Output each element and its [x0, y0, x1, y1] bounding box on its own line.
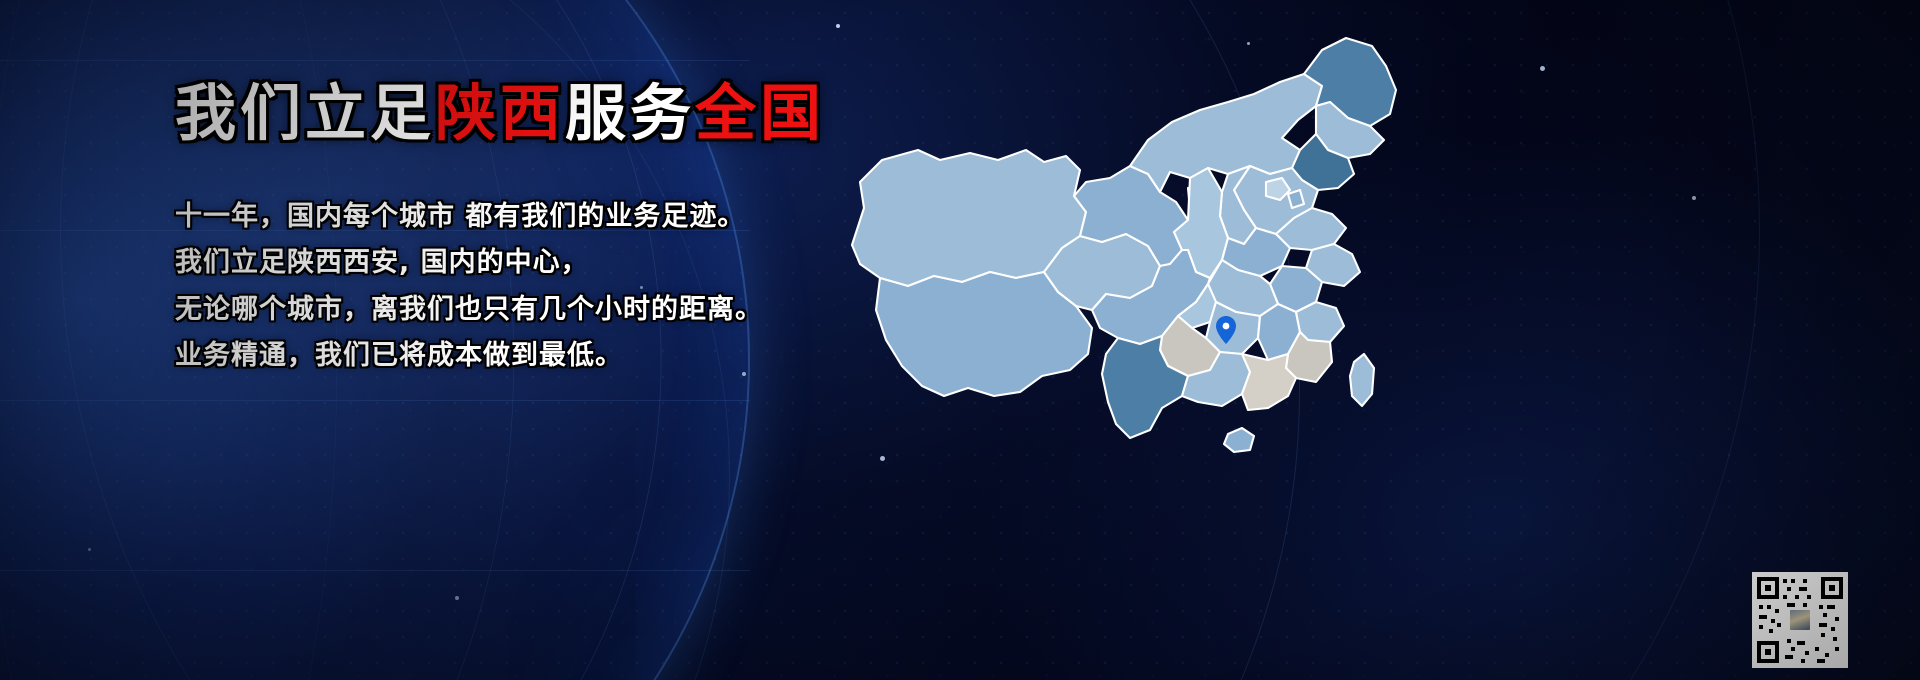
body-line: 无论哪个城市，离我们也只有几个小时的距离。	[175, 287, 935, 333]
globe-parallel	[0, 60, 750, 61]
body-line: 十一年，国内每个城市 都有我们的业务足迹。	[175, 194, 935, 240]
province-tianjin	[1288, 190, 1304, 208]
province-hainan	[1224, 428, 1254, 452]
qr-code[interactable]	[1752, 572, 1848, 668]
headline-segment-1: 我们立足	[175, 78, 435, 149]
body-line: 我们立足陕西西安, 国内的中心，	[175, 240, 935, 286]
globe-parallel	[0, 570, 750, 571]
china-map	[830, 10, 1530, 570]
globe-parallel	[0, 400, 750, 401]
promo-banner: 我们立足陕西服务全国 十一年，国内每个城市 都有我们的业务足迹。 我们立足陕西西…	[0, 0, 1920, 680]
qr-center-logo	[1788, 608, 1812, 632]
body-copy: 十一年，国内每个城市 都有我们的业务足迹。 我们立足陕西西安, 国内的中心， 无…	[175, 194, 935, 380]
copy-block: 我们立足陕西服务全国 十一年，国内每个城市 都有我们的业务足迹。 我们立足陕西西…	[175, 82, 935, 380]
qr-code-pattern	[1757, 577, 1843, 663]
province-taiwan	[1350, 354, 1374, 406]
headline-segment-2: 陕西	[435, 78, 565, 149]
page-title: 我们立足陕西服务全国	[175, 82, 935, 146]
headline-segment-3: 服务	[565, 78, 695, 149]
body-line: 业务精通，我们已将成本做到最低。	[175, 333, 935, 379]
headline-segment-4: 全国	[695, 78, 825, 149]
map-location-pin[interactable]	[1216, 316, 1236, 344]
